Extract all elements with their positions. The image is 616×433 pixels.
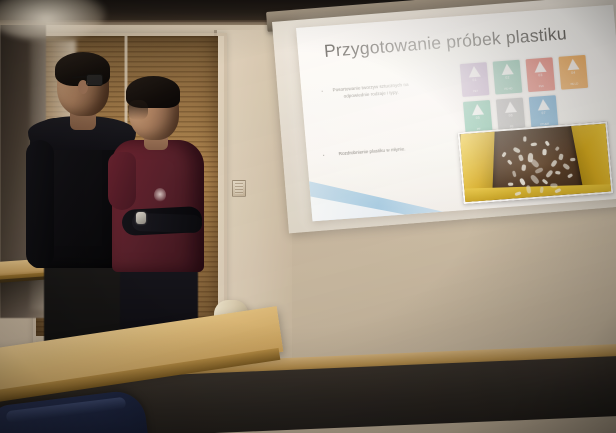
recycling-code-number: 07 (541, 110, 546, 114)
slide-title: Przygotowanie próbek plastiku (323, 24, 567, 61)
recycling-code-label: PET (472, 90, 479, 94)
presenter-right-sleeve (108, 152, 136, 210)
recycling-code-label: PVC (538, 85, 546, 89)
bullet-text: Posortowanie tworzyw sztucznych na odpow… (328, 82, 415, 102)
bullet-marker: • (323, 152, 325, 158)
recycling-triangle-icon (566, 58, 579, 70)
presenter-right-hair-fade (128, 100, 148, 120)
recycling-code-label: PE-HD (503, 87, 513, 91)
recycling-code-number: 01 (472, 77, 477, 81)
light-switch[interactable] (232, 180, 246, 197)
recycling-code-card: 03PVC (526, 57, 556, 92)
photo-scene: Przygotowanie próbek plastiku • Posortow… (0, 0, 616, 433)
recycling-code-card: 01PET (460, 62, 490, 97)
shirt-logo (154, 188, 166, 202)
wristwatch-icon (136, 212, 146, 224)
recycling-code-label: PE-LD (569, 83, 579, 87)
recycling-code-number: 04 (571, 70, 576, 74)
recycling-code-card: 04PE-LD (558, 55, 588, 90)
slide-bullet-1: • Posortowanie tworzyw sztucznych na odp… (321, 82, 414, 102)
projected-slide: Przygotowanie próbek plastiku • Posortow… (296, 5, 616, 222)
recycling-code-number: 02 (505, 75, 510, 79)
plastic-flakes (460, 124, 611, 202)
recycling-triangle-icon (471, 104, 484, 116)
recycling-code-number: 03 (538, 73, 543, 77)
recycling-triangle-icon (536, 99, 549, 111)
recycling-triangle-icon (500, 63, 513, 75)
recycling-triangle-icon (467, 66, 480, 78)
presenter-left-arm (26, 140, 54, 268)
glasses-icon (86, 74, 103, 86)
bullet-marker: • (321, 88, 323, 94)
slide-bullet-2: • Rozdrobnienie plastiku w młynie. (323, 146, 415, 160)
grinder-photo (458, 121, 614, 204)
recycling-code-card: 02PE-HD (493, 60, 523, 95)
bullet-text: Rozdrobnienie plastiku w młynie. (329, 146, 415, 159)
recycling-triangle-icon (504, 101, 517, 113)
recycling-triangle-icon (533, 61, 546, 73)
recycling-code-number: 05 (476, 115, 481, 119)
recycling-code-number: 06 (508, 113, 513, 117)
